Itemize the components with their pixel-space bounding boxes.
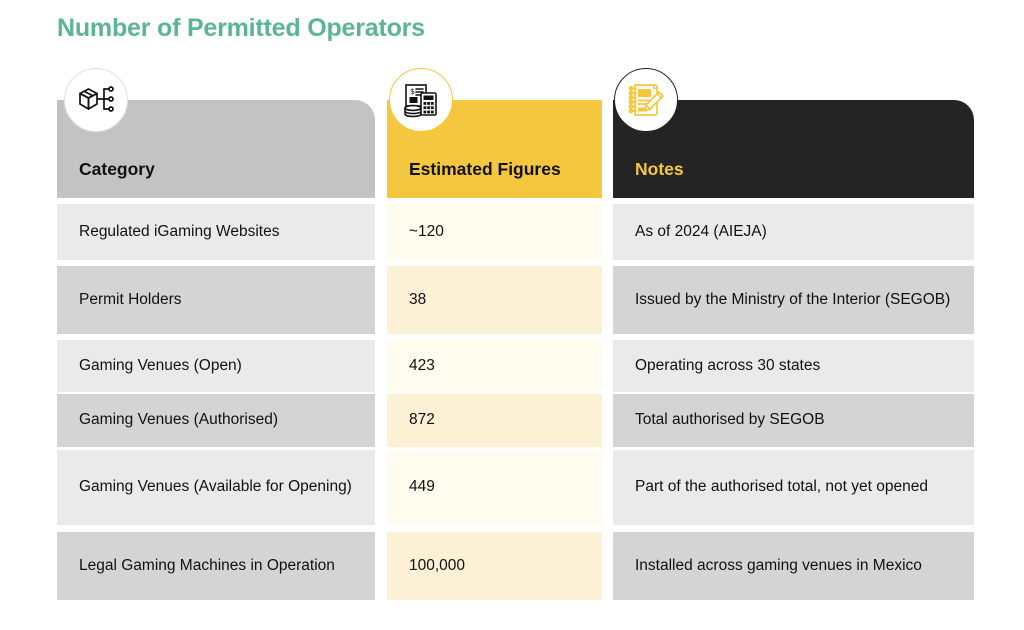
cell-figure: 38 xyxy=(409,290,426,310)
cell-figure-wrap: 449 xyxy=(387,450,602,525)
cell-note: Part of the authorised total, not yet op… xyxy=(635,477,928,497)
cell-category: Gaming Venues (Open) xyxy=(79,356,242,376)
cell-figure-wrap: ~120 xyxy=(387,204,602,260)
cell-figure: 100,000 xyxy=(409,556,465,576)
table-row: Gaming Venues (Open) xyxy=(57,340,375,392)
column-gap-2 xyxy=(602,450,613,525)
cell-category: Permit Holders xyxy=(79,290,182,310)
cell-note: Operating across 30 states xyxy=(635,356,820,376)
column-gap-2 xyxy=(602,525,613,532)
cell-figure-wrap: 38 xyxy=(387,266,602,334)
page-title: Number of Permitted Operators xyxy=(57,14,425,43)
cell-figure-wrap: 100,000 xyxy=(387,532,602,600)
column-gap-2 xyxy=(602,266,613,334)
column-gap-2 xyxy=(602,204,613,260)
cell-category: Legal Gaming Machines in Operation xyxy=(79,556,335,576)
table-row: Gaming Venues (Available for Opening) xyxy=(57,450,375,525)
column-header-notes-label: Notes xyxy=(635,159,684,180)
cell-figure: 423 xyxy=(409,356,435,376)
package-network-icon xyxy=(64,68,128,132)
table-row: Gaming Venues (Authorised) xyxy=(57,394,375,447)
row-spacer xyxy=(387,525,602,532)
column-gap-1 xyxy=(375,525,387,532)
column-gap-2 xyxy=(602,340,613,392)
column-gap-1 xyxy=(375,266,387,334)
cell-note: Total authorised by SEGOB xyxy=(635,410,825,430)
cell-category: Regulated iGaming Websites xyxy=(79,222,279,242)
column-gap-1 xyxy=(375,532,387,600)
cell-note: Issued by the Ministry of the Interior (… xyxy=(635,290,950,310)
cell-note-wrap: Operating across 30 states xyxy=(613,340,974,392)
cell-figure: 449 xyxy=(409,477,435,497)
cell-note: As of 2024 (AIEJA) xyxy=(635,222,767,242)
notepad-pencil-icon xyxy=(614,68,678,132)
cell-figure: 872 xyxy=(409,410,435,430)
permitted-operators-table: Category Estimated Figures Notes Regulat… xyxy=(57,100,974,600)
column-gap-2 xyxy=(602,532,613,600)
cell-note: Installed across gaming venues in Mexico xyxy=(635,556,922,576)
cell-note-wrap: Total authorised by SEGOB xyxy=(613,394,974,447)
cell-note-wrap: Part of the authorised total, not yet op… xyxy=(613,450,974,525)
cell-note-wrap: Issued by the Ministry of the Interior (… xyxy=(613,266,974,334)
row-spacer xyxy=(613,525,974,532)
cell-category: Gaming Venues (Authorised) xyxy=(79,410,278,430)
cell-figure-wrap: 423 xyxy=(387,340,602,392)
row-spacer xyxy=(57,525,375,532)
column-gap-1 xyxy=(375,204,387,260)
cell-note-wrap: As of 2024 (AIEJA) xyxy=(613,204,974,260)
column-header-category-label: Category xyxy=(79,159,155,180)
table-row: Legal Gaming Machines in Operation xyxy=(57,532,375,600)
column-gap-1 xyxy=(375,450,387,525)
cell-figure-wrap: 872 xyxy=(387,394,602,447)
column-gap-1 xyxy=(375,340,387,392)
infographic-table-page: Number of Permitted Operators Category E… xyxy=(0,0,1024,630)
table-row: Regulated iGaming Websites xyxy=(57,204,375,260)
column-gap-2 xyxy=(602,100,613,198)
cell-figure: ~120 xyxy=(409,222,444,242)
column-header-estimated-figures-label: Estimated Figures xyxy=(409,159,561,180)
calculator-money-icon: $ xyxy=(389,68,453,132)
column-gap-2 xyxy=(602,394,613,447)
svg-text:$: $ xyxy=(410,87,415,96)
table-row: Permit Holders xyxy=(57,266,375,334)
column-gap-1 xyxy=(375,394,387,447)
cell-note-wrap: Installed across gaming venues in Mexico xyxy=(613,532,974,600)
column-gap-1 xyxy=(375,100,387,198)
cell-category: Gaming Venues (Available for Opening) xyxy=(79,477,352,497)
